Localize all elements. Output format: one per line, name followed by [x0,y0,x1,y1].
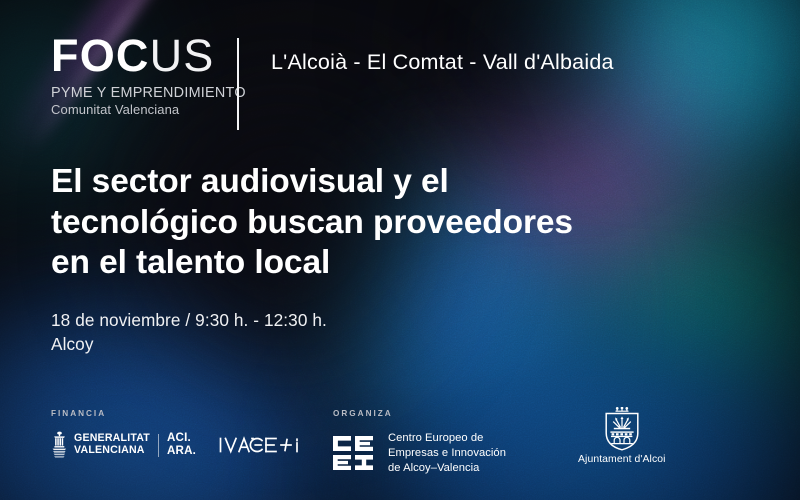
ajuntament-alcoi-logo: Ajuntament d'Alcoi [578,407,666,465]
event-details: 18 de noviembre / 9:30 h. - 12:30 h. Alc… [51,308,327,357]
organiza-kicker: ORGANIZA [333,409,506,418]
banner-footer: FINANCIA [0,404,800,500]
ceei-label: Centro Europeo de Empresas e Innovación … [388,431,506,475]
ajuntament-alcoi-label: Ajuntament d'Alcoi [578,454,666,465]
ceei-line-3: de Alcoy–Valencia [388,461,506,476]
focus-wordmark-light: US [150,30,215,81]
ivace-plus-i-wordmark-icon [218,435,310,455]
banner-header: FOCUS PYME Y EMPRENDIMIENTO Comunitat Va… [51,34,614,130]
focus-wordmark: FOCUS [51,34,231,78]
ceei-logo-icon [333,436,379,470]
ceei-line-1: Centro Europeo de [388,431,506,446]
focus-pyme-logo: FOCUS PYME Y EMPRENDIMIENTO Comunitat Va… [51,34,231,117]
page-title-line-3: en el talento local [51,243,671,284]
focus-tagline-secondary: Comunitat Valenciana [51,102,231,117]
aci-line-2: ARA. [167,445,196,458]
aci-ara-logo: ACI. ARA. [167,432,196,457]
page-title-line-1: El sector audiovisual y el [51,162,671,203]
regions-label: L'Alcoià - El Comtat - Vall d'Albaida [271,50,614,75]
ceei-logo: Centro Europeo de Empresas e Innovación … [333,431,506,475]
generalitat-valenciana-label: GENERALITAT VALENCIANA [74,433,150,457]
focus-tagline-primary: PYME Y EMPRENDIMIENTO [51,85,231,101]
page-title-line-2: tecnológico buscan proveedores [51,203,671,244]
focus-wordmark-bold: FOC [51,30,150,81]
logo-separator-icon [158,434,159,457]
event-city: Alcoy [51,332,327,356]
organiza-group: ORGANIZA [333,409,506,475]
financia-group: FINANCIA [51,409,310,459]
ajuntament-group: Ajuntament d'Alcoi [578,407,666,465]
ivace-logo [218,435,310,455]
generalitat-valenciana-logo: GENERALITAT VALENCIANA [51,431,150,459]
event-banner: FOCUS PYME Y EMPRENDIMIENTO Comunitat Va… [0,0,800,500]
financia-kicker: FINANCIA [51,409,310,418]
ajuntament-alcoi-coat-of-arms-icon [602,407,642,451]
page-title: El sector audiovisual y el tecnológico b… [51,162,671,284]
vertical-divider-icon [237,38,239,130]
ceei-line-2: Empresas e Innovación [388,446,506,461]
generalitat-valenciana-emblem-icon [51,431,68,459]
generalitat-line-2: VALENCIANA [74,445,150,457]
event-date-time: 18 de noviembre / 9:30 h. - 12:30 h. [51,308,327,332]
